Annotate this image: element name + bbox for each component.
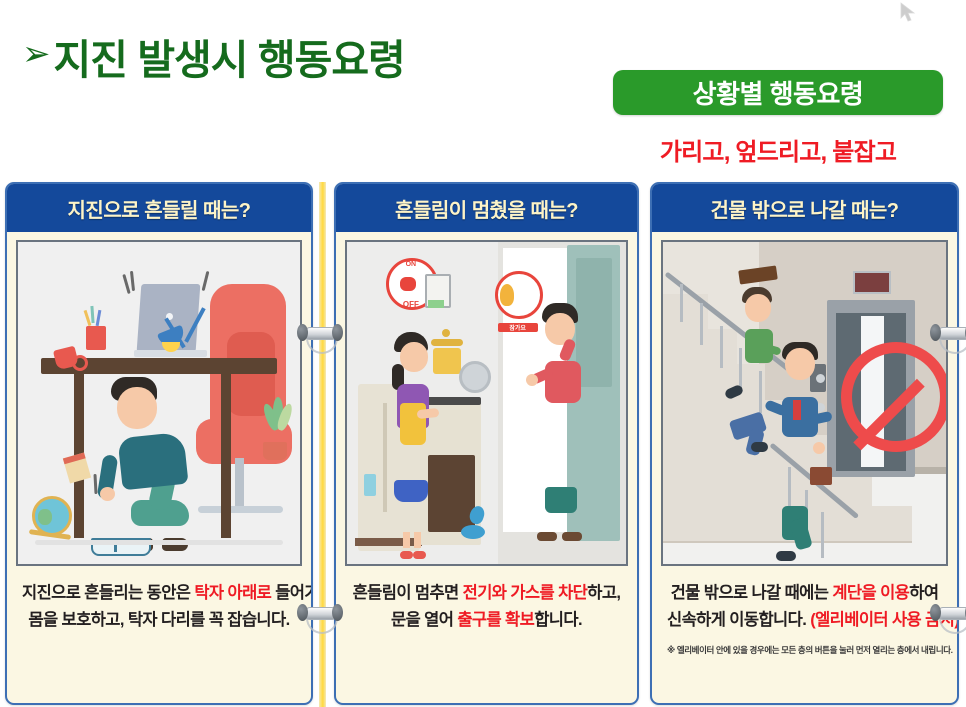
panel-3-caption-l1-post: 하여: [909, 584, 938, 602]
panel-group: 지진으로 흔들릴 때는?: [0, 182, 966, 707]
panel-2-caption: 흔들림이 멈추면 전기와 가스를 차단하고, 문을 열어 출구를 확보합니다.: [345, 566, 628, 634]
gas-sign-label: 잠가요: [498, 323, 538, 332]
panel-1-caption-l2-pre: 몸을 보호하고, 탁자 다리를 꼭 잡습니다.: [28, 611, 289, 629]
panel-2-caption-l1-pre: 흔들림이 멈추면: [353, 584, 463, 602]
bullet-arrow-icon: ➢: [22, 37, 50, 71]
panel-3-caption: 건물 밖으로 나갈 때에는 계단을 이용하여 신속하게 이동합니다. (엘리베이…: [661, 566, 948, 657]
no-elevator-prohibition-icon: [841, 342, 948, 452]
panel-1-body: 지진으로 흔들리는 동안은 탁자 아래로 들어가 몸을 보호하고, 탁자 다리를…: [7, 232, 311, 634]
panel-2-header-label: 흔들림이 멈췄을 때는?: [395, 194, 578, 223]
panel-1-header: 지진으로 흔들릴 때는?: [7, 184, 311, 232]
illustration-stairs-no-elevator: [661, 240, 948, 566]
panel-2-caption-l2-highlight: 출구를 확보: [457, 611, 534, 629]
panel-shaking-stopped[interactable]: 흔들림이 멈췄을 때는? ON OFF: [334, 182, 639, 705]
panel-3-caption-l2-highlight: (엘리베이터 사용 금지): [810, 611, 959, 629]
panel-1-caption: 지진으로 흔들리는 동안은 탁자 아래로 들어가 몸을 보호하고, 탁자 다리를…: [16, 566, 302, 634]
panel-2-body: ON OFF 잠가요: [336, 232, 637, 634]
panel-earthquake-shaking[interactable]: 지진으로 흔들릴 때는?: [5, 182, 313, 705]
illustration-desk-cover: [16, 240, 302, 566]
panel-3-footnote: ※ 엘리베이터 안에 있을 경우에는 모든 층의 버튼을 눌러 먼저 열리는 층…: [667, 643, 942, 657]
panel-3-caption-l1-pre: 건물 밖으로 나갈 때에는: [671, 584, 833, 602]
panel-3-header: 건물 밖으로 나갈 때는?: [652, 184, 957, 232]
mouse-cursor-icon: [899, 2, 917, 22]
subtitle-text: 가리고, 엎드리고, 붙잡고: [613, 132, 943, 167]
elevator-indicator: [853, 271, 891, 294]
illustration-kitchen-gas-door: ON OFF 잠가요: [345, 240, 628, 566]
panel-leaving-building[interactable]: 건물 밖으로 나갈 때는?: [650, 182, 959, 705]
panel-3-header-label: 건물 밖으로 나갈 때는?: [711, 194, 899, 223]
slide-canvas: ➢ 지진 발생시 행동요령 상황별 행동요령 가리고, 엎드리고, 붙잡고 지진…: [0, 0, 966, 707]
panel-2-caption-l1-highlight: 전기와 가스를 차단: [463, 584, 588, 602]
situation-badge-label: 상황별 행동요령: [693, 74, 864, 111]
situation-badge: 상황별 행동요령: [613, 70, 943, 115]
page-title: ➢ 지진 발생시 행동요령: [22, 26, 405, 86]
panel-1-caption-l1-highlight: 탁자 아래로: [194, 584, 271, 602]
page-title-text: 지진 발생시 행동요령: [54, 26, 405, 86]
panel-2-caption-l2-pre: 문을 열어: [391, 611, 457, 629]
onoff-on-label: ON: [389, 261, 433, 268]
panel-3-caption-l2-pre: 신속하게 이동합니다.: [667, 611, 810, 629]
panel-3-body: 건물 밖으로 나갈 때에는 계단을 이용하여 신속하게 이동합니다. (엘리베이…: [652, 232, 957, 657]
panel-3-caption-l1-highlight: 계단을 이용: [832, 584, 909, 602]
panel-1-caption-l1-pre: 지진으로 흔들리는 동안은: [22, 584, 194, 602]
panel-2-header: 흔들림이 멈췄을 때는?: [336, 184, 637, 232]
panel-2-caption-l1-post: 하고,: [587, 584, 620, 602]
panel-1-header-label: 지진으로 흔들릴 때는?: [68, 194, 251, 223]
panel-2-caption-l2-post: 합니다.: [534, 611, 582, 629]
binder-spine: [319, 182, 326, 707]
panel-1-caption-l1-post: 들어가: [271, 584, 313, 602]
